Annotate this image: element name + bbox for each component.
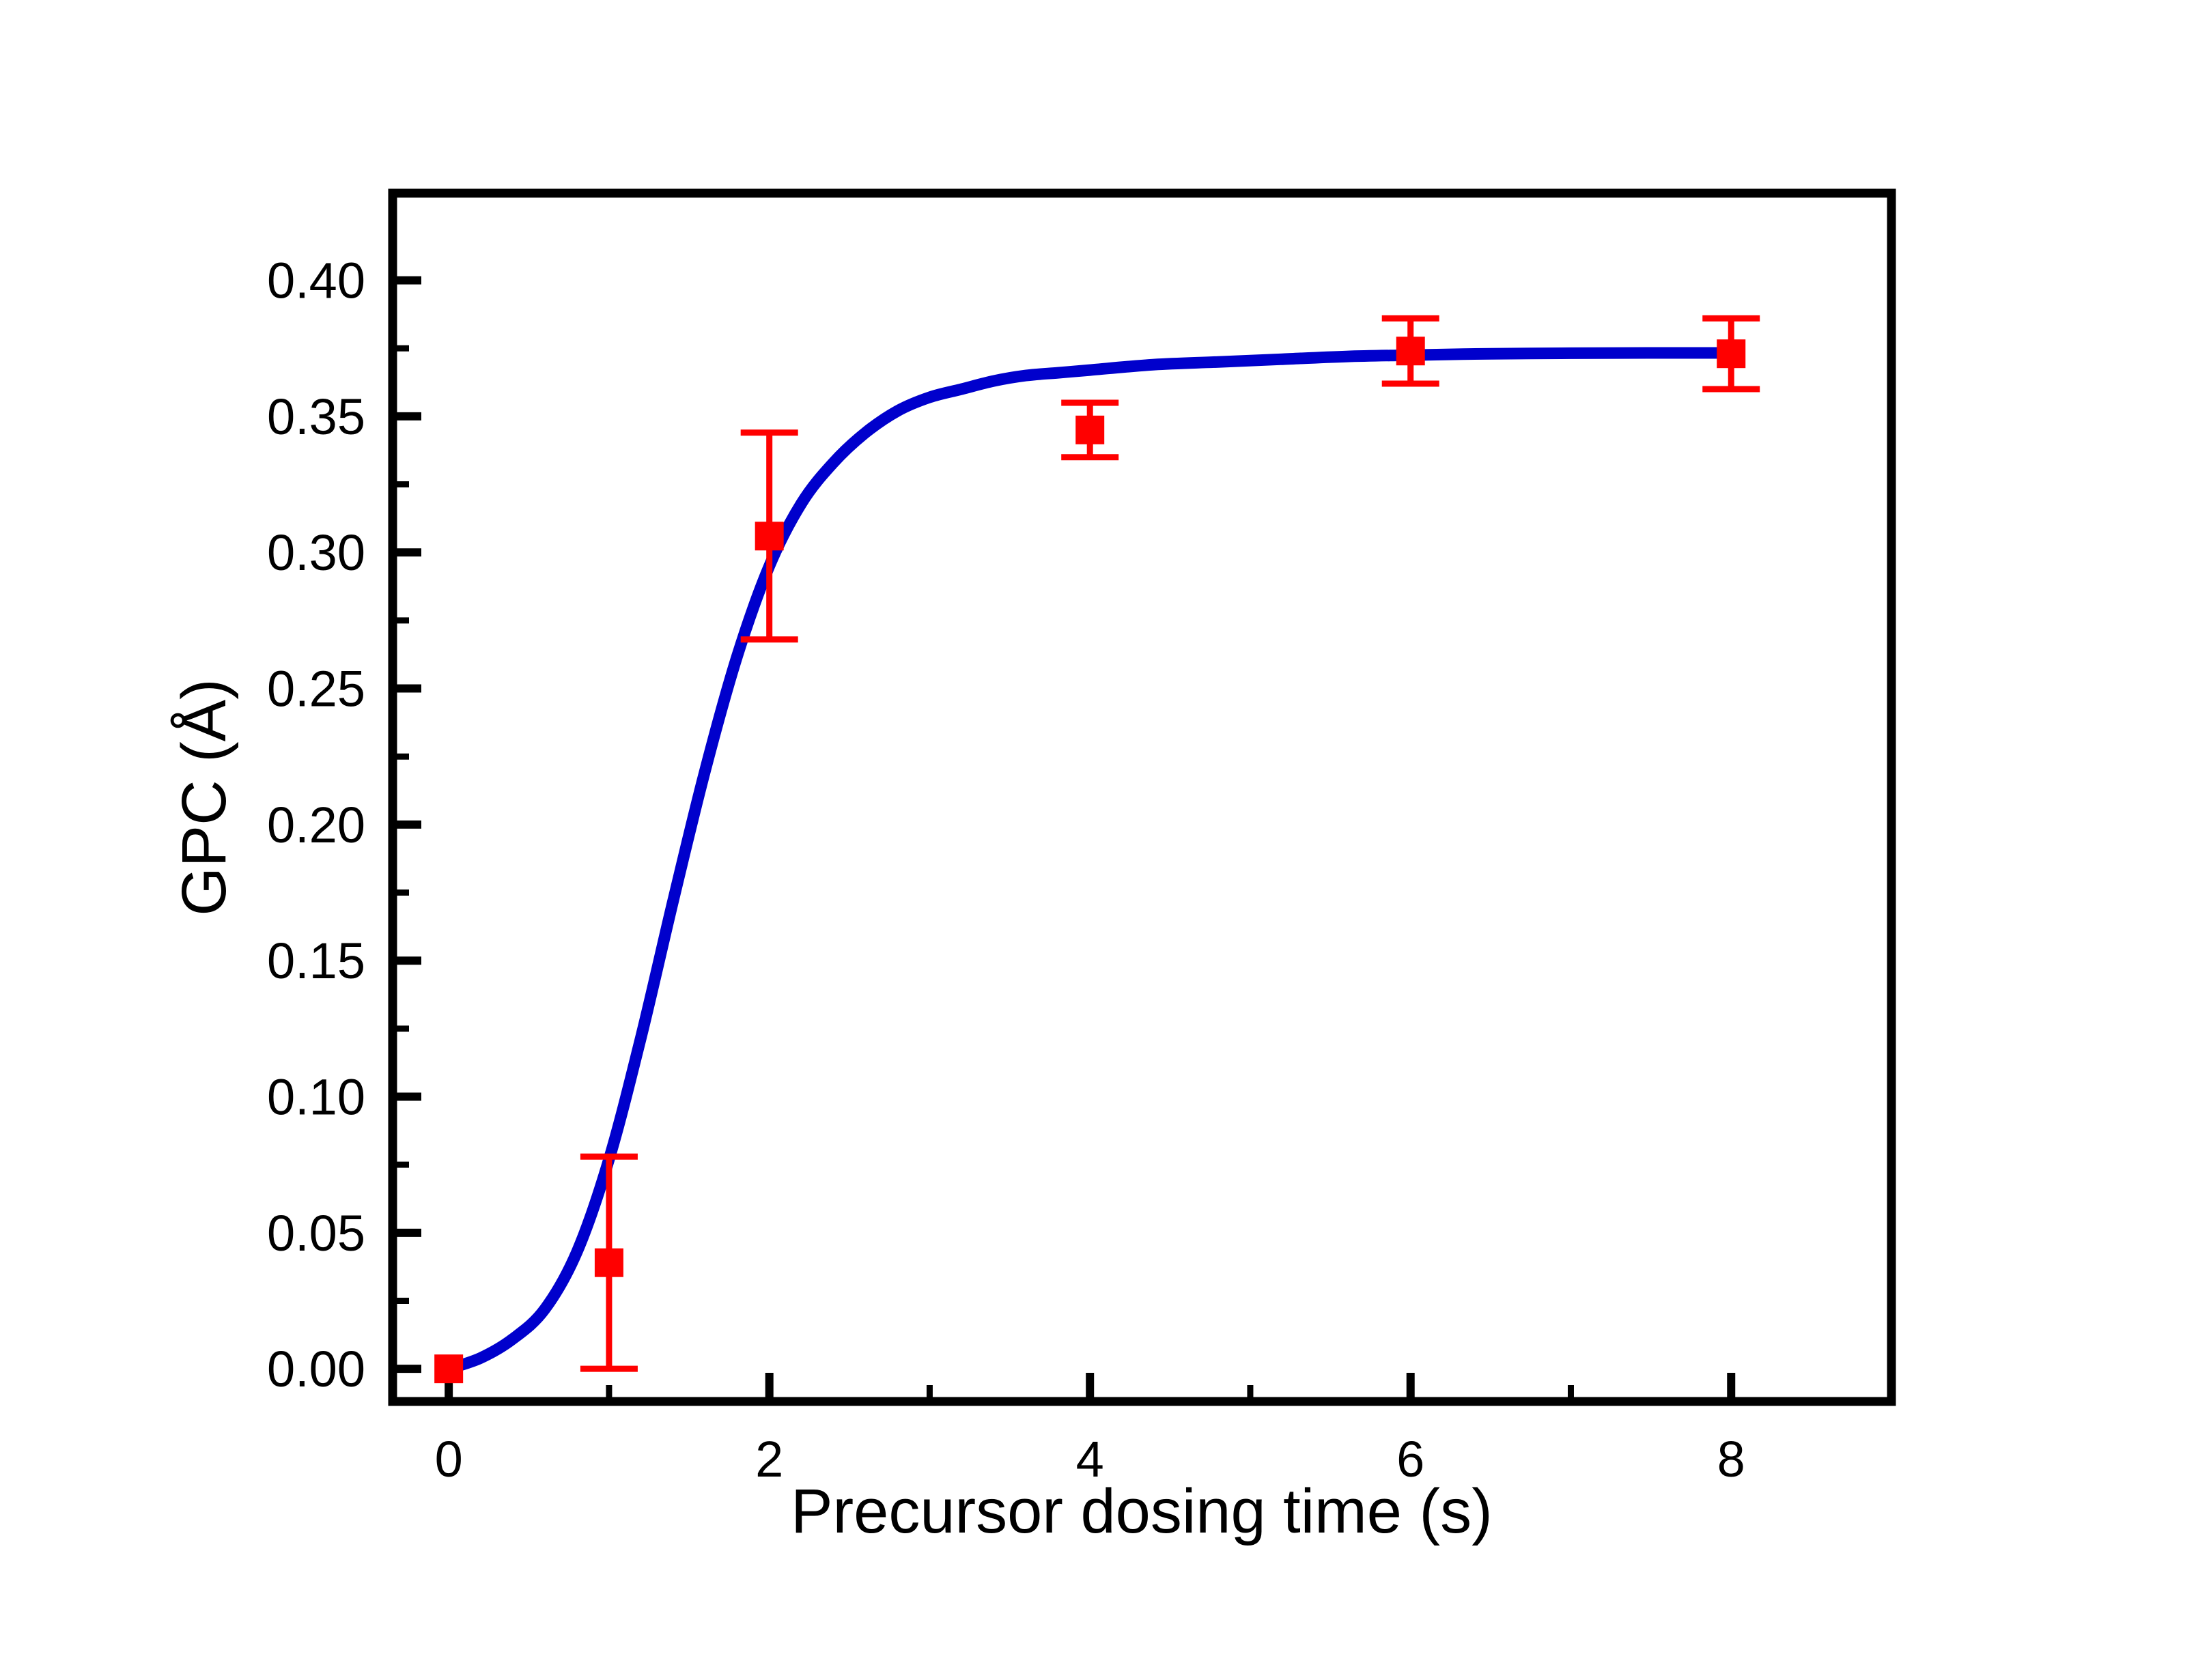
y-tick-label: 0.15 bbox=[267, 932, 365, 989]
y-tick-label: 0.25 bbox=[267, 661, 365, 717]
chart-figure: 02468 0.000.050.100.150.200.250.300.350.… bbox=[0, 0, 2196, 1680]
data-point-marker bbox=[434, 1354, 463, 1383]
x-tick-label: 8 bbox=[1717, 1431, 1745, 1487]
y-axis-title: GPC (Å) bbox=[169, 679, 239, 916]
data-point-marker bbox=[1396, 337, 1425, 365]
data-point-marker bbox=[1075, 416, 1104, 444]
data-point-marker bbox=[1717, 339, 1745, 368]
x-axis-title: Precursor dosing time (s) bbox=[791, 1477, 1493, 1546]
y-tick-label: 0.40 bbox=[267, 253, 365, 309]
x-tick-label: 0 bbox=[435, 1431, 463, 1487]
y-tick-label: 0.05 bbox=[267, 1205, 365, 1262]
x-tick-label: 2 bbox=[755, 1431, 783, 1487]
y-tick-label: 0.20 bbox=[267, 797, 365, 853]
data-point-marker bbox=[595, 1249, 623, 1277]
y-tick-label: 0.00 bbox=[267, 1341, 365, 1397]
plot-canvas: 02468 0.000.050.100.150.200.250.300.350.… bbox=[0, 0, 2196, 1680]
y-tick-label: 0.10 bbox=[267, 1069, 365, 1126]
data-point-marker bbox=[755, 522, 784, 550]
y-tick-label: 0.35 bbox=[267, 388, 365, 445]
y-tick-label: 0.30 bbox=[267, 524, 365, 581]
y-axis-tick-labels: 0.000.050.100.150.200.250.300.350.40 bbox=[267, 253, 365, 1398]
